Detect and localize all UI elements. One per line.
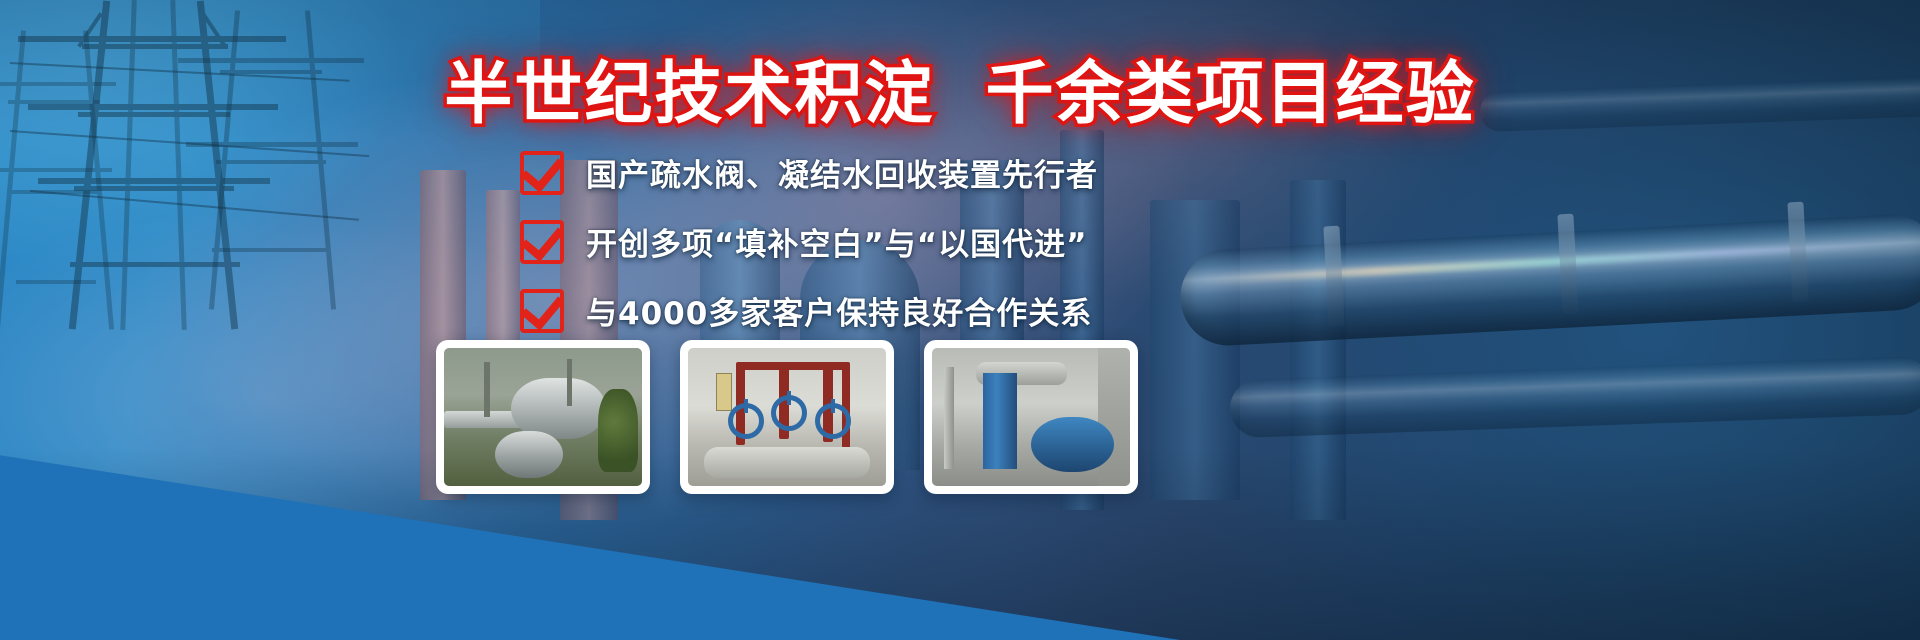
list-item: 开创多项“填补空白”与“以国代进” <box>520 219 1098 264</box>
checkbox-checked-icon <box>520 220 564 264</box>
list-item-label: 与4000多家客户保持良好合作关系 <box>586 288 1092 333</box>
list-item: 国产疏水阀、凝结水回收装置先行者 <box>520 150 1098 195</box>
photo-card-2[interactable] <box>680 340 894 494</box>
checkbox-checked-icon <box>520 289 564 333</box>
photo-card-1[interactable] <box>436 340 650 494</box>
banner-content: 半世纪技术积淀 千余类项目经验 国产疏水阀、凝结水回收装置先行者 开创多项“填补… <box>0 0 1920 640</box>
product-photo-red-piping <box>688 348 886 486</box>
promo-banner: 半世纪技术积淀 千余类项目经验 国产疏水阀、凝结水回收装置先行者 开创多项“填补… <box>0 0 1920 640</box>
list-item: 与4000多家客户保持良好合作关系 <box>520 288 1098 333</box>
feature-bullet-list: 国产疏水阀、凝结水回收装置先行者 开创多项“填补空白”与“以国代进” 与4000… <box>520 150 1098 333</box>
product-photo-condensate-unit <box>932 348 1130 486</box>
page-title: 半世纪技术积淀 千余类项目经验 <box>0 38 1920 137</box>
checkbox-checked-icon <box>520 151 564 195</box>
photo-card-3[interactable] <box>924 340 1138 494</box>
list-item-label: 开创多项“填补空白”与“以国代进” <box>586 219 1088 264</box>
list-item-label: 国产疏水阀、凝结水回收装置先行者 <box>586 150 1098 195</box>
photo-card-gallery <box>436 340 1138 494</box>
product-photo-horizontal-vessel <box>444 348 642 486</box>
